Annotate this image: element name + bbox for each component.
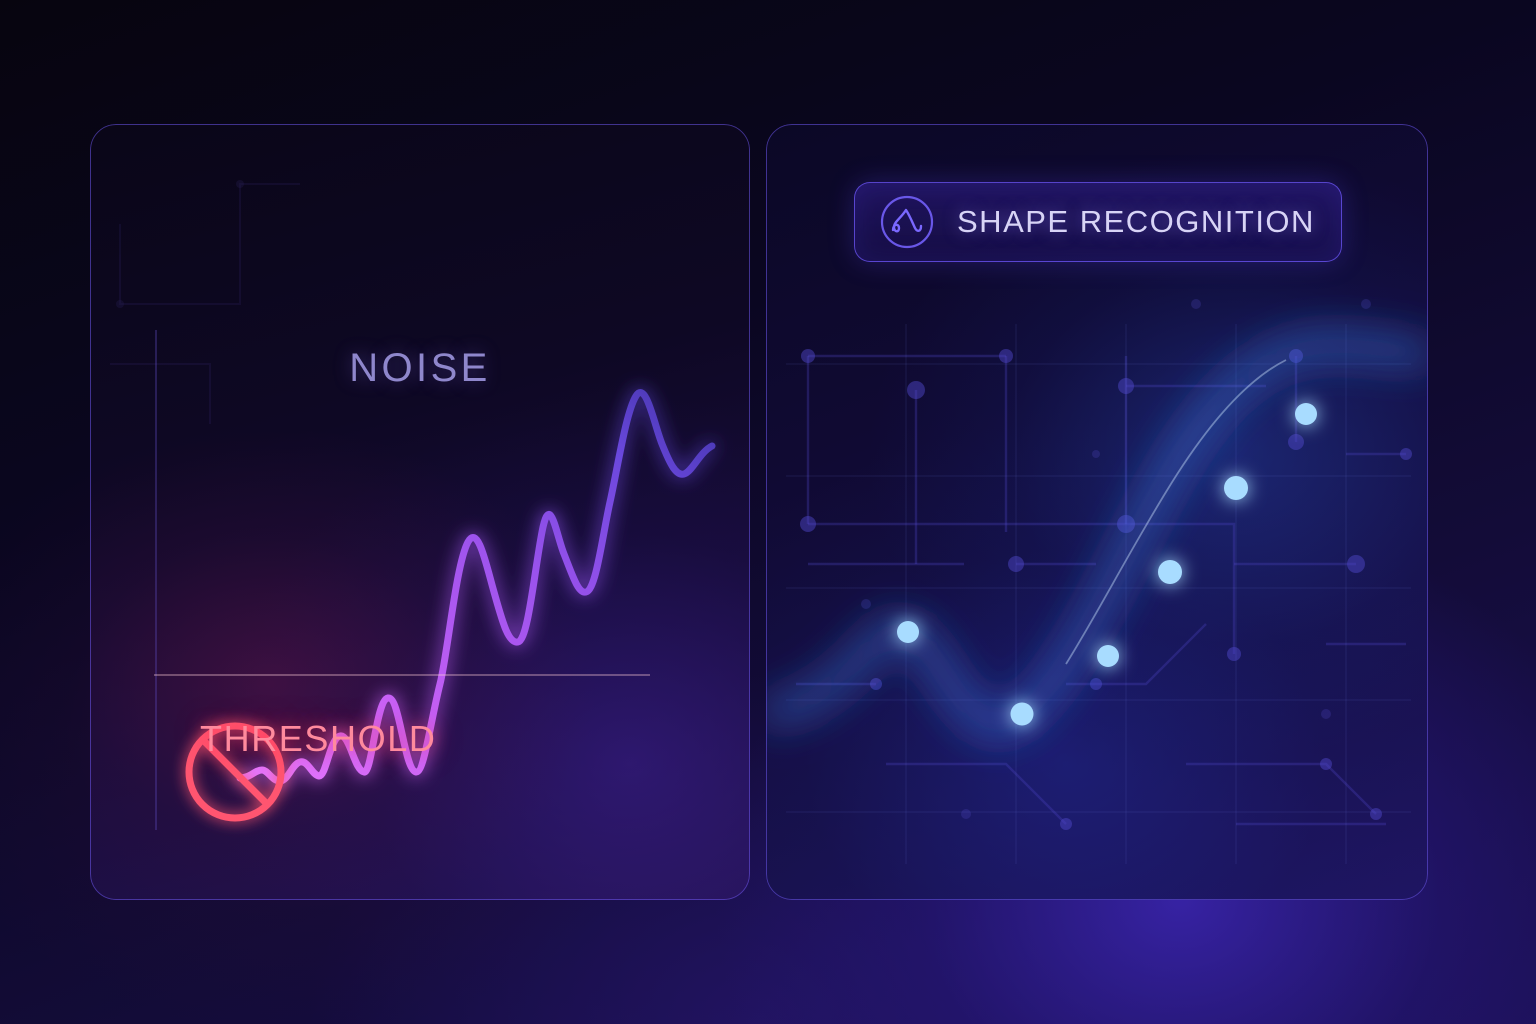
prohibition-icon[interactable] [90,124,750,900]
noise-panel: NOISE THRESHOLD [90,124,750,900]
waveform-circle-icon [879,194,935,250]
threshold-label: THRESHOLD [200,718,436,760]
marker-point [1158,560,1182,584]
shape-recognition-badge-label: SHAPE RECOGNITION [957,204,1315,240]
marker-point [897,621,919,643]
marker-point [1224,476,1248,500]
shape-recognition-badge[interactable]: SHAPE RECOGNITION [854,182,1342,262]
noise-title: NOISE [90,346,750,391]
marker-point [1295,403,1317,425]
shape-recognition-panel: SHAPE RECOGNITION [766,124,1428,900]
marker-point [1011,703,1034,726]
scene-root: NOISE THRESHOLD [0,0,1536,1024]
marker-point [1097,645,1119,667]
